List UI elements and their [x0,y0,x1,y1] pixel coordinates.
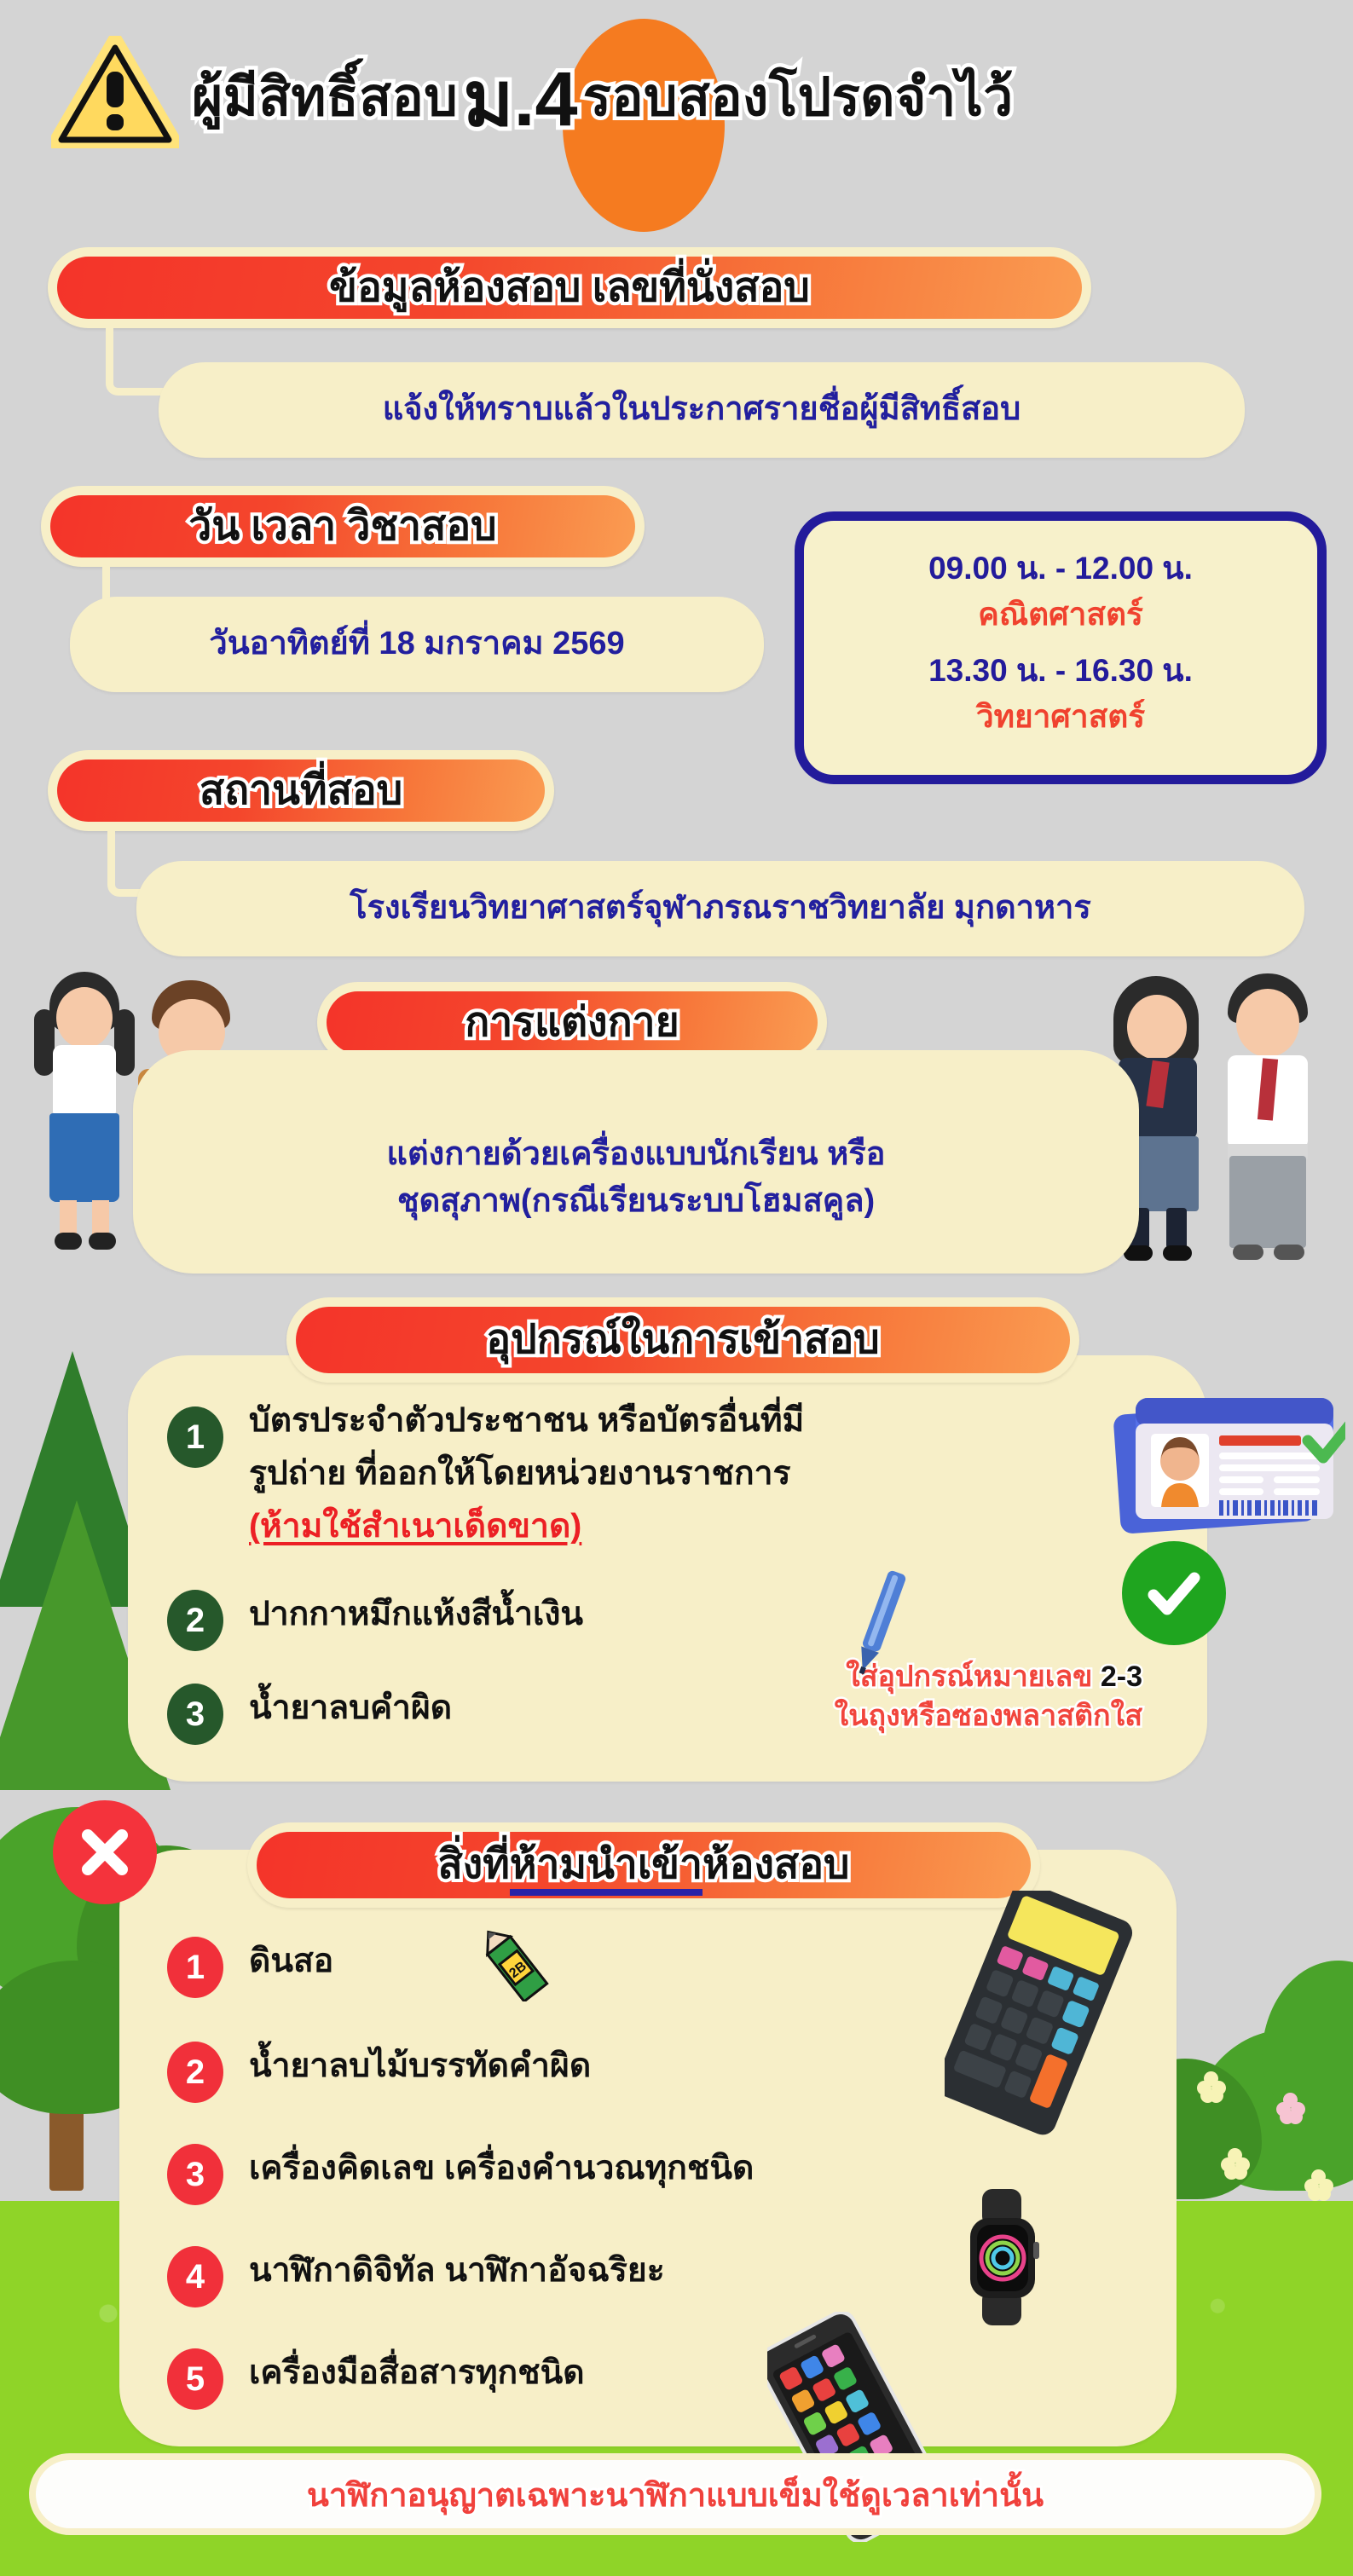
schedule-time-1: 09.00 น. - 12.00 น. [928,547,1193,590]
flower-icon [1304,2169,1333,2198]
grade-badge-label: ม.4 [463,38,577,159]
schedule-time-2: 13.30 น. - 16.30 น. [928,650,1193,692]
card-dress-code: แต่งกายด้วยเครื่องแบบนักเรียน หรือ ชุดสุ… [133,1050,1139,1274]
student-girl-left-illustration [29,972,140,1253]
prohibited-item-label-4: นาฬิกาดิจิทัล นาฬิกาอัจฉริยะ [249,2246,665,2296]
footer-note: นาฬิกาอนุญาตเฉพาะนาฬิกาแบบเข็มใช้ดูเวลาเ… [29,2453,1321,2535]
card-dress-code-line2: ชุดสุภาพ(กรณีเรียนระบบโฮมสคูล) [133,1178,1139,1225]
flower-icon [1276,2093,1305,2122]
card-room-info-text: แจ้งให้ทราบแล้วในประกาศรายชื่อผู้มีสิทธิ… [361,386,1043,433]
schedule-subject-2: วิทยาศาสตร์ [976,696,1145,738]
allowed-item-line-1a: บัตรประจำตัวประชาชน หรือบัตรอื่นที่มี [249,1396,804,1447]
red-cross-circle-icon [53,1800,157,1904]
card-room-info: แจ้งให้ทราบแล้วในประกาศรายชื่อผู้มีสิทธิ… [159,362,1245,458]
banner-prohibited-a: สิ่งที่ [437,1842,509,1887]
banner-venue: สถานที่สอบ [48,750,554,831]
prohibited-item-label-2: น้ำยาลบไม้บรรทัดคำผิด [249,2042,591,2092]
flower-icon [1221,2148,1250,2177]
banner-dress-code-label: การแต่งกาย [465,1002,679,1043]
banner-room-info: ข้อมูลห้องสอบ เลขที่นั่งสอบ [48,247,1091,328]
infographic-page: ผู้มีสิทธิ์สอบ ม.4 รอบสองโปรดจำไว้ ข้อมู… [0,0,1353,2576]
title-text-before: ผู้มีสิทธิ์สอบ [192,69,458,127]
banner-prohibited-b: ห้องสอบ [703,1842,850,1887]
allowed-item-label-3: น้ำยาลบคำผิด [249,1684,452,1734]
allowed-item-label-2: ปากกาหมึกแห้งสีน้ำเงิน [249,1590,583,1640]
title-text-after: รอบสองโปรดจำไว้ [583,69,1014,127]
prohibited-item-number-5: 5 [167,2348,223,2410]
banner-date-time: วัน เวลา วิชาสอบ [41,486,645,567]
banner-prohibited: สิ่งที่ห้ามนำเข้าห้องสอบ [247,1822,1040,1908]
allowed-item-line-1b: รูปถ่าย ที่ออกให้โดยหน่วยงานราชการ [249,1449,790,1499]
banner-room-info-label: ข้อมูลห้องสอบ เลขที่นั่งสอบ [329,268,810,309]
blue-pen-icon [853,1564,907,1677]
footer-note-text: นาฬิกาอนุญาตเฉพาะนาฬิกาแบบเข็มใช้ดูเวลาเ… [307,2469,1044,2521]
green-check-circle-icon [1122,1541,1226,1645]
allowed-note-line1-b: 2-3 [1101,1661,1142,1693]
calculator-icon [945,1891,1145,2138]
banner-prohibited-label: สิ่งที่ห้ามนำเข้าห้องสอบ [437,1845,849,1886]
banner-venue-label: สถานที่สอบ [199,771,402,811]
prohibited-item-number-3: 3 [167,2144,223,2205]
card-venue-text: โรงเรียนวิทยาศาสตร์จุฬาภรณราชวิทยาลัย มุ… [327,885,1113,932]
smartwatch-icon [951,2189,1054,2325]
prohibited-item-number-4: 4 [167,2246,223,2307]
prohibited-item-label-1: ดินสอ [249,1937,333,1987]
card-date-time: วันอาทิตย์ที่ 18 มกราคม 2569 [70,597,764,692]
banner-allowed-equipment-label: อุปกรณ์ในการเข้าสอบ [486,1320,879,1360]
card-venue: โรงเรียนวิทยาศาสตร์จุฬาภรณราชวิทยาลัย มุ… [136,861,1304,956]
banner-allowed-equipment: อุปกรณ์ในการเข้าสอบ [286,1297,1079,1383]
schedule-box: 09.00 น. - 12.00 น. คณิตศาสตร์ 13.30 น. … [795,511,1327,784]
allowed-note-line2: ในถุงหรือซองพลาสติกใส [597,1697,1142,1736]
prohibited-item-number-1: 1 [167,1937,223,1998]
pencil-2b-icon: 2B [476,1928,570,2001]
allowed-item-line-1c: (ห้ามใช้สำเนาเด็ดขาด) [249,1502,581,1552]
page-title: ผู้มีสิทธิ์สอบ ม.4 รอบสองโปรดจำไว้ [192,51,1317,145]
bush-icon [1194,2029,1353,2191]
schedule-subject-1: คณิตศาสตร์ [978,593,1143,636]
allowed-item-number-2: 2 [167,1590,223,1651]
id-card-icon [1113,1389,1345,1541]
tree-trunk-icon [49,2071,84,2191]
allowed-item-number-3: 3 [167,1684,223,1745]
banner-date-time-label: วัน เวลา วิชาสอบ [188,506,496,547]
allowed-item-number-1: 1 [167,1406,223,1468]
prohibited-item-label-5: เครื่องมือสื่อสารทุกชนิด [249,2348,585,2399]
flower-icon [1197,2071,1226,2100]
prohibited-item-label-3: เครื่องคิดเลข เครื่องคำนวณทุกชนิด [249,2144,754,2194]
card-date-time-text: วันอาทิตย์ที่ 18 มกราคม 2569 [187,621,646,667]
card-dress-code-line1: แต่งกายด้วยเครื่องแบบนักเรียน หรือ [133,1131,1139,1178]
bush-icon [1262,1961,1353,2123]
warning-triangle-icon [51,36,179,148]
banner-prohibited-underlined: ห้ามนำเข้า [510,1842,703,1896]
student-boy-right-illustration [1211,973,1330,1268]
prohibited-item-number-2: 2 [167,2042,223,2103]
